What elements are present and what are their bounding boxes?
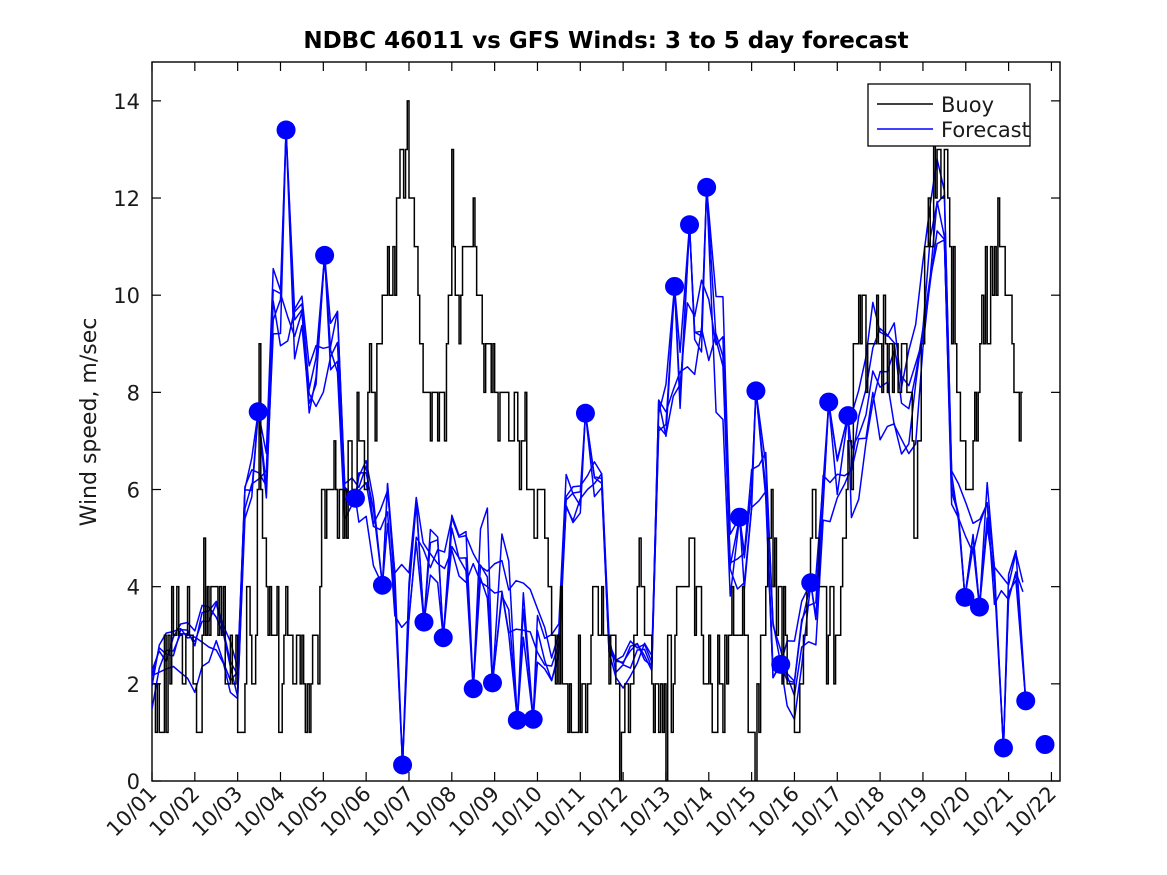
forecast-marker-dot — [746, 381, 765, 400]
forecast-marker-dot — [970, 598, 989, 617]
y-tick-label: 10 — [113, 284, 140, 308]
forecast-marker-dot — [373, 576, 392, 595]
legend[interactable]: Buoy Forecast — [868, 84, 1030, 146]
y-tick-label: 4 — [127, 576, 140, 600]
forecast-marker-dot — [434, 628, 453, 647]
y-tick-label: 8 — [127, 381, 140, 405]
legend-label-forecast: Forecast — [941, 118, 1030, 142]
legend-label-buoy: Buoy — [941, 93, 994, 117]
forecast-marker-dot — [249, 402, 268, 421]
forecast-marker-dot — [665, 277, 684, 296]
forecast-marker-dot — [524, 710, 543, 729]
forecast-marker-dot — [1036, 735, 1055, 754]
forecast-marker-dot — [393, 755, 412, 774]
forecast-marker-dot — [994, 738, 1013, 757]
forecast-marker-dot — [730, 508, 749, 527]
forecast-marker-dot — [277, 121, 296, 140]
forecast-marker-dot — [414, 613, 433, 632]
forecast-marker-dot — [801, 573, 820, 592]
y-axis-label: Wind speed, m/sec — [77, 318, 102, 527]
forecast-marker-dot — [1016, 691, 1035, 710]
y-tick-label: 12 — [113, 187, 140, 211]
forecast-marker-dot — [697, 178, 716, 197]
forecast-marker-dot — [838, 406, 857, 425]
forecast-marker-dot — [483, 673, 502, 692]
page-title: NDBC 46011 vs GFS Winds: 3 to 5 day fore… — [303, 28, 908, 54]
y-tick-label: 6 — [127, 479, 140, 503]
forecast-marker-dot — [680, 215, 699, 234]
forecast-marker-dot — [315, 246, 334, 265]
forecast-marker-dot — [576, 404, 595, 423]
y-tick-label: 2 — [127, 673, 140, 697]
wind-speed-chart: NDBC 46011 vs GFS Winds: 3 to 5 day fore… — [0, 0, 1167, 875]
figure-container: NDBC 46011 vs GFS Winds: 3 to 5 day fore… — [0, 0, 1167, 875]
forecast-marker-dot — [771, 655, 790, 674]
forecast-marker-dot — [346, 489, 365, 508]
y-tick-label: 14 — [113, 90, 140, 114]
forecast-marker-dot — [464, 679, 483, 698]
forecast-marker-dot — [819, 393, 838, 412]
